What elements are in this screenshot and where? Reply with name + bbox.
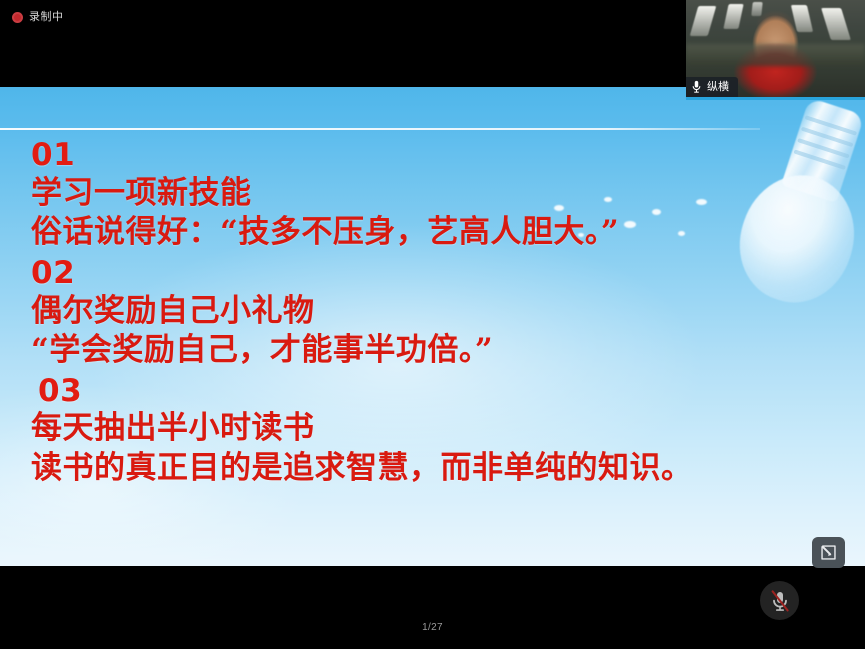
slide-block-03: 03 每天抽出半小时读书 读书的真正目的是追求智慧，而非单纯的知识。 xyxy=(31,373,855,489)
pen-edit-icon xyxy=(819,543,838,562)
ceiling-light xyxy=(821,8,851,40)
block-heading: 每天抽出半小时读书 xyxy=(31,409,855,449)
block-number: 03 xyxy=(31,373,855,410)
participant-name: 纵横 xyxy=(707,82,729,93)
ceiling-light xyxy=(751,2,762,16)
block-heading: 偶尔奖励自己小礼物 xyxy=(31,292,855,332)
recording-indicator: 录制中 xyxy=(12,12,64,23)
microphone-icon xyxy=(691,80,702,94)
microphone-muted-icon xyxy=(769,589,791,613)
ceiling-light xyxy=(791,5,813,32)
ceiling-light xyxy=(723,4,743,29)
annotate-button[interactable] xyxy=(812,537,845,568)
block-detail: 俗话说得好：“技多不压身，艺高人胆大。” xyxy=(31,213,855,253)
mic-toggle-button[interactable] xyxy=(760,581,799,620)
slide-content: 01 学习一项新技能 俗话说得好：“技多不压身，艺高人胆大。” 02 偶尔奖励自… xyxy=(31,137,855,489)
slide-block-02: 02 偶尔奖励自己小礼物 “学会奖励自己，才能事半功倍。” xyxy=(31,255,855,371)
bottom-toolbar: 1/27 xyxy=(0,566,865,649)
recording-label: 录制中 xyxy=(29,12,64,23)
ceiling-light xyxy=(690,6,717,36)
slide-divider-line xyxy=(0,128,760,130)
participant-video-tile[interactable]: 纵横 xyxy=(686,0,865,100)
background-blur-band xyxy=(686,44,865,66)
block-detail: 读书的真正目的是追求智慧，而非单纯的知识。 xyxy=(31,449,855,489)
recording-dot-icon xyxy=(12,12,23,23)
participant-nameplate: 纵横 xyxy=(686,77,738,97)
block-number: 02 xyxy=(31,255,855,292)
shared-slide: 01 学习一项新技能 俗话说得好：“技多不压身，艺高人胆大。” 02 偶尔奖励自… xyxy=(0,87,865,566)
meeting-screenshare-window: 录制中 纵横 xyxy=(0,0,865,649)
block-heading: 学习一项新技能 xyxy=(31,174,855,214)
block-detail: “学会奖励自己，才能事半功倍。” xyxy=(31,331,855,371)
block-number: 01 xyxy=(31,137,855,174)
slide-block-01: 01 学习一项新技能 俗话说得好：“技多不压身，艺高人胆大。” xyxy=(31,137,855,253)
page-indicator: 1/27 xyxy=(0,623,865,633)
